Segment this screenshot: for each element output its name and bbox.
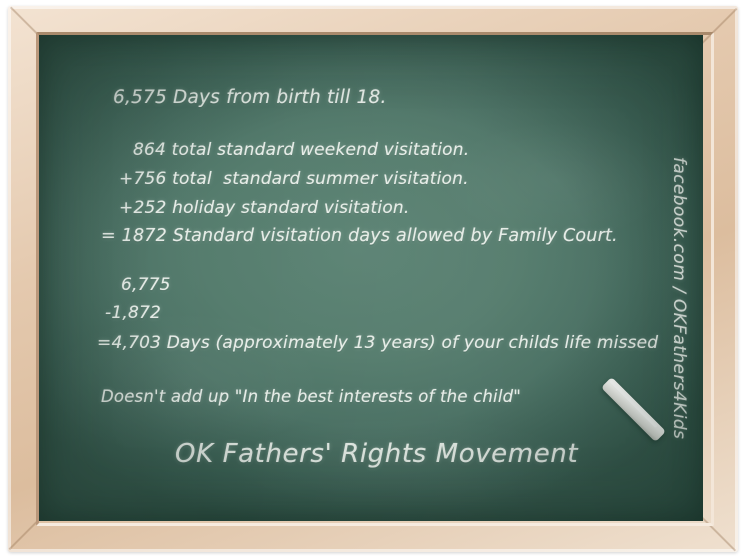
line-weekend-visitation: 864 total standard weekend visitation. bbox=[133, 140, 469, 160]
organization-title: OK Fathers' Rights Movement bbox=[175, 439, 578, 469]
line-days-till-18: 6,575 Days from birth till 18. bbox=[113, 87, 387, 108]
line-subtrahend: -1,872 bbox=[105, 303, 161, 323]
line-summer-visitation: +756 total standard summer visitation. bbox=[119, 169, 469, 189]
chalk-stick-icon bbox=[601, 377, 666, 442]
line-holiday-visitation: +252 holiday standard visitation. bbox=[119, 198, 410, 218]
line-difference: =4,703 Days (approximately 13 years) of … bbox=[97, 333, 658, 353]
line-standard-total: = 1872 Standard visitation days allowed … bbox=[101, 226, 618, 246]
facebook-watermark: facebook.com / OKFathers4Kids bbox=[669, 157, 689, 439]
line-commentary: Doesn't add up "In the best interests of… bbox=[101, 387, 521, 406]
chalkboard-surface: 6,575 Days from birth till 18. 864 total… bbox=[39, 35, 703, 521]
line-minuend: 6,775 bbox=[121, 275, 171, 295]
chalkboard-scene: 6,575 Days from birth till 18. 864 total… bbox=[0, 0, 750, 560]
